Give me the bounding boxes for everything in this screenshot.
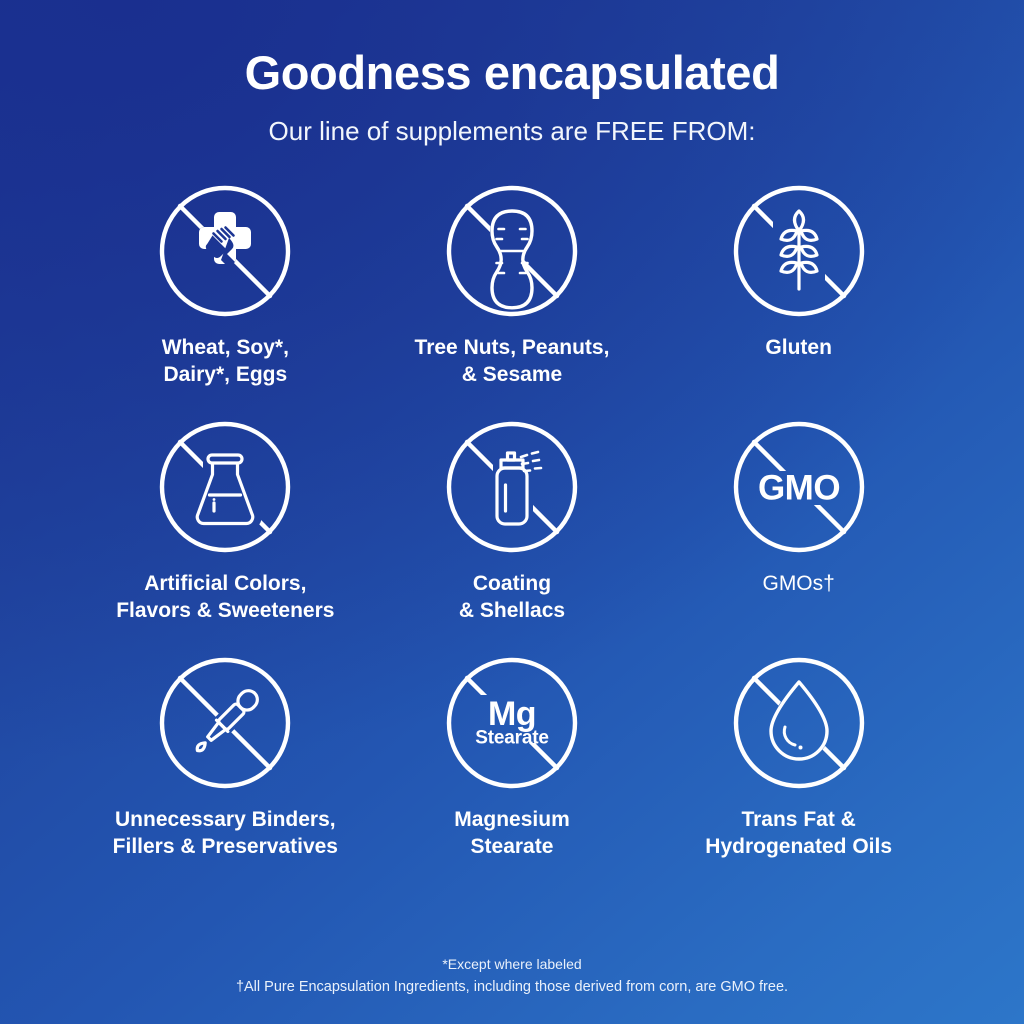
no-oil-droplet-icon bbox=[731, 655, 867, 791]
free-from-item-label: Wheat, Soy*, Dairy*, Eggs bbox=[162, 335, 289, 389]
free-from-item-coating-shellacs: Coating & Shellacs bbox=[372, 419, 652, 655]
free-from-item-label: GMOs† bbox=[762, 571, 834, 598]
free-from-item-label: Artificial Colors, Flavors & Sweeteners bbox=[116, 571, 334, 625]
no-spray-can-icon bbox=[444, 419, 580, 555]
footnote-dagger: † bbox=[236, 979, 244, 995]
no-magnesium-stearate-icon: Mg Stearate bbox=[444, 655, 580, 791]
no-peanut-icon bbox=[444, 183, 580, 319]
footnote-gmo-free-text: All Pure Encapsulation Ingredients, incl… bbox=[244, 979, 788, 995]
free-from-item-trans-fat-hydrogenated-oils: Trans Fat & Hydrogenated Oils bbox=[659, 655, 939, 891]
no-flask-icon bbox=[157, 419, 293, 555]
free-from-item-label: Unnecessary Binders, Fillers & Preservat… bbox=[113, 807, 338, 861]
no-gmo-icon: GMO bbox=[731, 419, 867, 555]
poster-header: Goodness encapsulated Our line of supple… bbox=[0, 0, 1024, 145]
free-from-item-wheat-soy-dairy-eggs: Wheat, Soy*, Dairy*, Eggs bbox=[85, 183, 365, 419]
footnote-gmo-free: †All Pure Encapsulation Ingredients, inc… bbox=[0, 976, 1024, 998]
free-from-item-tree-nuts-peanuts-sesame: Tree Nuts, Peanuts, & Sesame bbox=[372, 183, 652, 419]
no-wheat-stalk-icon bbox=[731, 183, 867, 319]
free-from-grid: Wheat, Soy*, Dairy*, Eggs bbox=[82, 183, 942, 891]
promo-poster: Goodness encapsulated Our line of supple… bbox=[0, 0, 1024, 1024]
no-dropper-icon bbox=[157, 655, 293, 791]
free-from-item-gluten: Gluten bbox=[659, 183, 939, 419]
gmo-icon-text: GMO bbox=[758, 469, 840, 508]
free-from-item-label: Tree Nuts, Peanuts, & Sesame bbox=[415, 335, 610, 389]
poster-footer: *Except where labeled †All Pure Encapsul… bbox=[0, 954, 1024, 998]
free-from-item-label: Coating & Shellacs bbox=[459, 571, 565, 625]
free-from-item-label: Magnesium Stearate bbox=[454, 807, 570, 861]
free-from-item-binders-fillers-preservatives: Unnecessary Binders, Fillers & Preservat… bbox=[85, 655, 365, 891]
free-from-item-gmos: GMO GMOs† bbox=[659, 419, 939, 655]
free-from-item-label: Trans Fat & Hydrogenated Oils bbox=[705, 807, 892, 861]
free-from-item-artificial-colors: Artificial Colors, Flavors & Sweeteners bbox=[85, 419, 365, 655]
page-title: Goodness encapsulated bbox=[0, 48, 1024, 99]
footnote-except-where-labeled: *Except where labeled bbox=[0, 954, 1024, 976]
free-from-item-label: Gluten bbox=[765, 335, 832, 362]
no-fork-cross-icon bbox=[157, 183, 293, 319]
free-from-item-magnesium-stearate: Mg Stearate Magnesium Stearate bbox=[372, 655, 652, 891]
page-subtitle: Our line of supplements are FREE FROM: bbox=[0, 117, 1024, 146]
stearate-text: Stearate bbox=[475, 728, 548, 749]
